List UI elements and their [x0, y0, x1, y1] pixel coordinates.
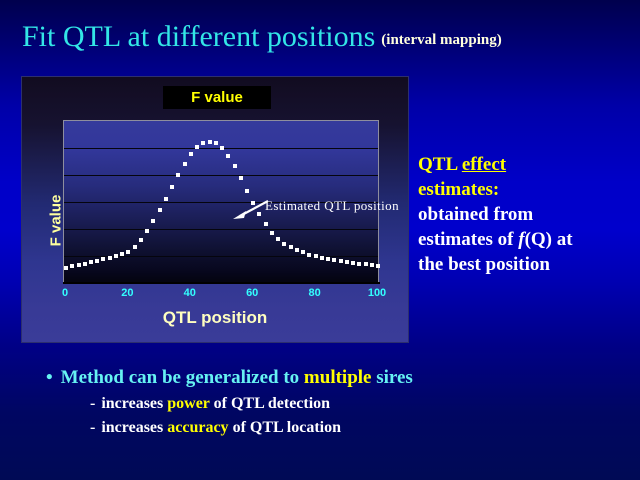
chart-x-tick-label: 100	[368, 287, 386, 299]
chart-data-point	[370, 263, 374, 267]
bullet-list: •Method can be generalized to multiple s…	[46, 367, 616, 437]
chart-x-tick-label: 20	[121, 287, 133, 299]
chart-data-point	[245, 189, 249, 193]
chart-data-point	[364, 262, 368, 266]
chart-data-point	[164, 197, 168, 201]
chart-data-point	[270, 231, 274, 235]
slide-title-subtitle: (interval mapping)	[381, 32, 501, 48]
sub-bullet-1-highlight: power	[167, 395, 209, 412]
chart-x-tick-labels: 020406080100	[63, 287, 379, 305]
sub-bullet-2-dash: -	[90, 419, 95, 436]
chart-x-tick-label: 0	[62, 287, 68, 299]
chart-data-point	[220, 146, 224, 150]
chart-data-point	[301, 250, 305, 254]
annotation-arrow-icon	[230, 199, 270, 221]
sub-bullet-1-dash: -	[90, 395, 95, 412]
chart-data-point	[151, 219, 155, 223]
qtl-effect-text-block: QTL effect estimates: obtained from esti…	[418, 152, 634, 277]
sub-bullet-1-a: increases	[101, 395, 167, 412]
chart-data-point	[170, 185, 174, 189]
right-line-4a: estimates of	[418, 229, 518, 250]
right-line-1a: QTL	[418, 154, 462, 175]
chart-data-point	[326, 257, 330, 261]
chart-data-point	[95, 259, 99, 263]
chart-data-point	[201, 141, 205, 145]
sub-bullet-2-highlight: accuracy	[167, 419, 228, 436]
chart-data-point	[126, 250, 130, 254]
chart-data-point	[351, 261, 355, 265]
chart-data-point	[139, 238, 143, 242]
chart-data-point	[108, 256, 112, 260]
sub-bullet-2: -increases accuracy of QTL location	[90, 419, 616, 437]
chart-gridline	[64, 175, 378, 176]
chart-data-point	[282, 242, 286, 246]
chart-data-point	[295, 248, 299, 252]
chart-data-point	[233, 164, 237, 168]
chart-title-label: F value	[191, 89, 243, 106]
chart-data-point	[345, 260, 349, 264]
chart-data-point	[195, 145, 199, 149]
chart-data-point	[101, 257, 105, 261]
chart-x-axis-line	[63, 282, 380, 284]
chart-data-point	[289, 245, 293, 249]
chart-data-point	[89, 260, 93, 264]
right-line-1b: effect	[462, 154, 506, 175]
bullet-main-a: Method can be generalized to	[61, 367, 304, 388]
chart-data-point	[357, 262, 361, 266]
bullet-main-c: sires	[371, 367, 412, 388]
chart-data-point	[214, 141, 218, 145]
chart-data-point	[64, 266, 68, 270]
bullet-dot-icon: •	[46, 367, 53, 388]
chart-data-point	[183, 162, 187, 166]
chart-data-point	[208, 140, 212, 144]
slide-title: Fit QTL at different positions(interval …	[22, 20, 632, 54]
chart-data-point	[189, 152, 193, 156]
sub-bullet-1: -increases power of QTL detection	[90, 395, 616, 413]
chart-data-point	[320, 256, 324, 260]
chart-data-point	[120, 252, 124, 256]
chart-x-tick-label: 60	[246, 287, 258, 299]
chart-data-point	[307, 253, 311, 257]
chart-data-point	[239, 176, 243, 180]
slide-title-main: Fit QTL at different positions	[22, 20, 375, 53]
chart-data-point	[114, 254, 118, 258]
chart-data-point	[83, 262, 87, 266]
chart-data-point	[176, 173, 180, 177]
chart-data-point	[276, 237, 280, 241]
chart-data-point	[133, 245, 137, 249]
chart-data-point	[314, 254, 318, 258]
sub-bullet-2-a: increases	[101, 419, 167, 436]
chart-x-tick-label: 40	[184, 287, 196, 299]
chart-title: F value	[163, 86, 271, 109]
chart-data-point	[226, 154, 230, 158]
chart-data-point	[264, 222, 268, 226]
chart-data-point	[158, 208, 162, 212]
sub-bullet-2-c: of QTL location	[229, 419, 341, 436]
chart-data-point	[332, 258, 336, 262]
right-line-1: QTL effect	[418, 152, 634, 177]
right-line-2: estimates:	[418, 177, 634, 202]
chart-gridline	[64, 229, 378, 230]
right-line-4b: (Q) at	[525, 229, 573, 250]
chart-data-point	[376, 264, 380, 268]
right-line-3: obtained from	[418, 202, 634, 227]
chart-data-point	[70, 264, 74, 268]
right-line-5: the best position	[418, 252, 634, 277]
chart-data-point	[77, 263, 81, 267]
chart-x-tick-label: 80	[308, 287, 320, 299]
annotation-label: Estimated QTL position	[265, 198, 399, 214]
bullet-main-highlight: multiple	[304, 367, 372, 388]
sub-bullet-1-c: of QTL detection	[210, 395, 330, 412]
chart-data-point	[339, 259, 343, 263]
chart-container: F value F value Estimated QTL position 0…	[21, 76, 409, 343]
bullet-main: •Method can be generalized to multiple s…	[46, 367, 616, 389]
chart-y-axis-title: F value	[48, 171, 65, 271]
chart-x-axis-title: QTL position	[22, 308, 408, 328]
right-line-4: estimates of f(Q) at	[418, 227, 634, 252]
slide-canvas: Fit QTL at different positions(interval …	[0, 0, 640, 480]
chart-data-point	[145, 229, 149, 233]
